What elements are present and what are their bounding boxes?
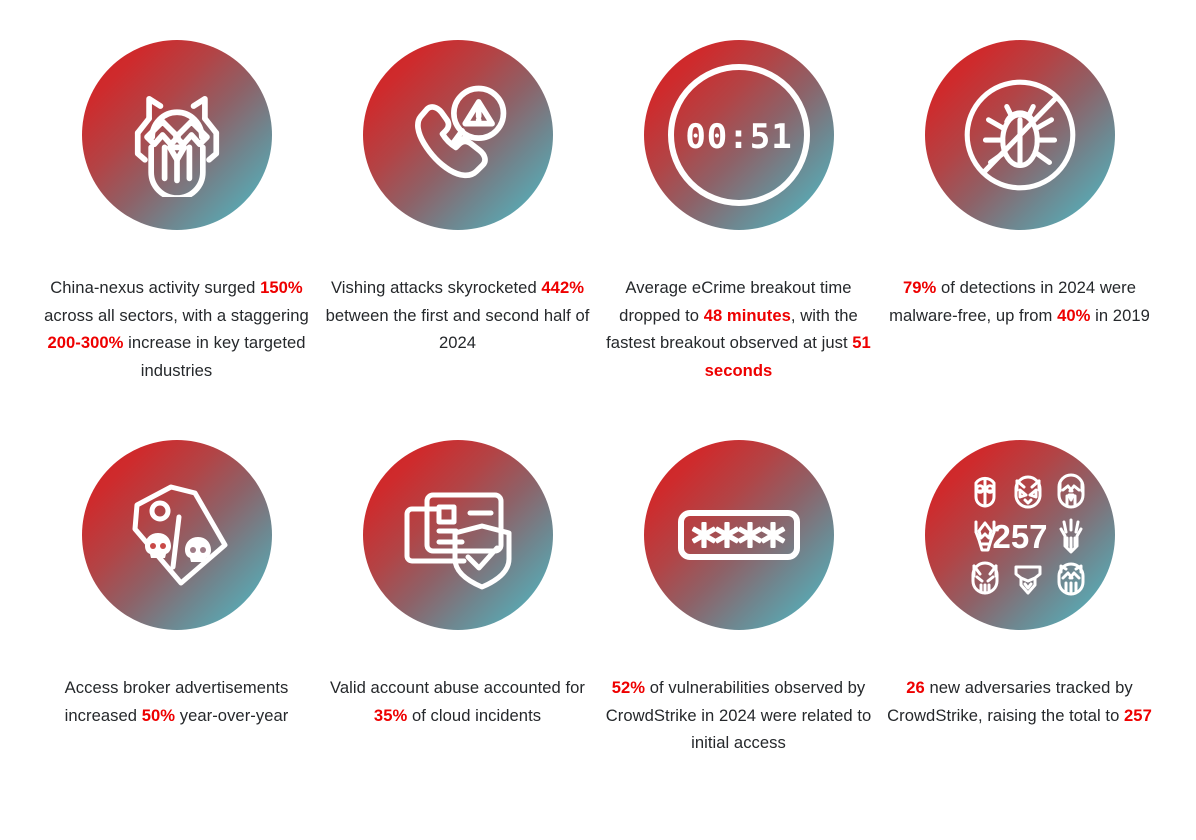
caption-text: increase in key targeted industries [124, 333, 306, 380]
malware-free-no-bug-icon [925, 40, 1115, 230]
stat-cell-valid-account-abuse: Valid account abuse accounted for 35% of… [317, 440, 598, 729]
caption-text: year-over-year [175, 706, 288, 725]
caption-highlight: 150% [260, 278, 303, 297]
breakout-timer-icon: 00:51 [644, 40, 834, 230]
stat-caption-vishing: Vishing attacks skyrocketed 442% between… [324, 274, 592, 357]
caption-highlight: 442% [541, 278, 584, 297]
adversary-count: 257 [992, 518, 1047, 555]
caption-text: between the first and second half of 202… [326, 306, 590, 353]
caption-highlight: 40% [1057, 306, 1090, 325]
caption-highlight: 35% [374, 706, 407, 725]
stat-cell-vishing: Vishing attacks skyrocketed 442% between… [317, 40, 598, 357]
caption-text: China-nexus activity surged [50, 278, 260, 297]
stat-cell-china-nexus: China-nexus activity surged 150% across … [36, 40, 317, 384]
caption-highlight: 48 minutes [704, 306, 791, 325]
stat-cell-malware-free: 79% of detections in 2024 were malware-f… [879, 40, 1160, 329]
caption-text: new adversaries tracked by CrowdStrike, … [887, 678, 1133, 725]
stat-cell-breakout-time: 00:51 Average eCrime breakout time dropp… [598, 40, 879, 384]
adversary-panda-face-icon [82, 40, 272, 230]
stat-caption-access-broker: Access broker advertisements increased 5… [43, 674, 311, 729]
stat-row-2: Access broker advertisements increased 5… [24, 440, 1172, 840]
caption-highlight: 52% [612, 678, 645, 697]
stat-caption-adversaries: 26 new adversaries tracked by CrowdStrik… [886, 674, 1154, 729]
stat-row-1: China-nexus activity surged 150% across … [24, 40, 1172, 440]
caption-text: of cloud incidents [407, 706, 541, 725]
stat-cell-vulnerabilities: 52% of vulnerabilities observed by Crowd… [598, 440, 879, 757]
caption-text: Valid account abuse accounted for [330, 678, 585, 697]
caption-highlight: 26 [906, 678, 925, 697]
caption-highlight: 257 [1124, 706, 1152, 725]
adversary-faces-grid-icon: 257 [925, 440, 1115, 630]
stat-cell-adversaries: 257 [879, 440, 1160, 729]
timer-value: 00:51 [685, 117, 792, 157]
price-tag-skull-percent-icon [82, 440, 272, 630]
stat-caption-china-nexus: China-nexus activity surged 150% across … [43, 274, 311, 384]
caption-highlight: 79% [903, 278, 936, 297]
caption-text: across all sectors, with a staggering [44, 306, 309, 325]
stat-caption-breakout-time: Average eCrime breakout time dropped to … [605, 274, 873, 384]
caption-highlight: 200-300% [47, 333, 123, 352]
caption-text: Vishing attacks skyrocketed [331, 278, 541, 297]
caption-highlight: 50% [142, 706, 175, 725]
stat-cell-access-broker: Access broker advertisements increased 5… [36, 440, 317, 729]
vishing-phone-warning-icon [363, 40, 553, 230]
caption-text: of vulnerabilities observed by CrowdStri… [606, 678, 872, 752]
caption-text: in 2019 [1090, 306, 1149, 325]
id-card-shield-check-icon [363, 440, 553, 630]
stats-infographic: China-nexus activity surged 150% across … [0, 0, 1196, 840]
stat-caption-malware-free: 79% of detections in 2024 were malware-f… [886, 274, 1154, 329]
password-field-asterisks-icon [644, 440, 834, 630]
stat-caption-vulnerabilities: 52% of vulnerabilities observed by Crowd… [605, 674, 873, 757]
stat-caption-valid-account-abuse: Valid account abuse accounted for 35% of… [324, 674, 592, 729]
